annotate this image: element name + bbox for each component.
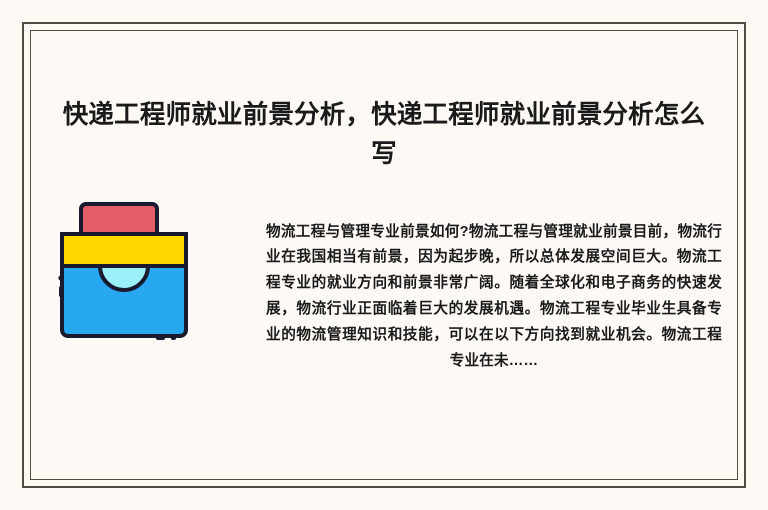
article-body-text: 物流工程与管理专业前景如何?物流工程与管理就业前景目前，物流行业在我国相当有前景… — [266, 220, 722, 375]
accent-dash-bottom-a — [156, 336, 165, 340]
box-band-shape — [62, 234, 186, 266]
accent-dash-left — [59, 286, 63, 297]
page-title: 快递工程师就业前景分析，快递工程师就业前景分析怎么写 — [56, 96, 712, 174]
accent-dash-bottom-b — [171, 336, 176, 340]
accent-dot-left — [58, 275, 63, 280]
delivery-box-illustration — [56, 196, 196, 344]
document-page: 快递工程师就业前景分析，快递工程师就业前景分析怎么写 物流工程与管理专业前景如何… — [0, 0, 768, 510]
